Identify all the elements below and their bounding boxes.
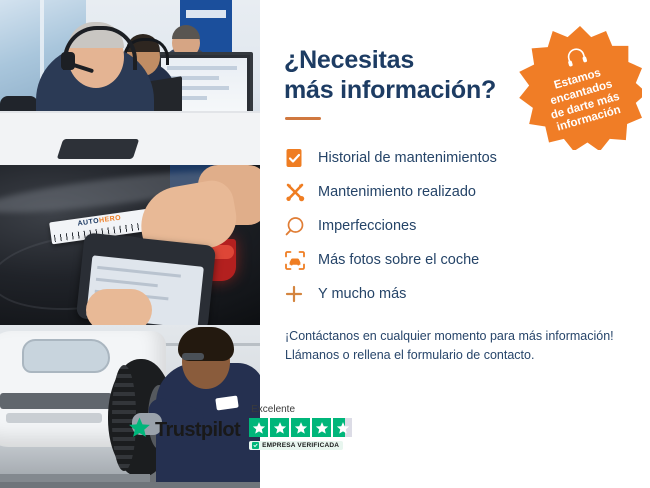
feature-label: Imperfecciones (318, 218, 416, 234)
feature-list: Historial de mantenimientos M (284, 142, 628, 310)
clipboard-check-icon (284, 147, 318, 169)
title-underline (285, 117, 321, 120)
feature-label: Mantenimiento realizado (318, 184, 476, 200)
star-tile (270, 418, 289, 437)
trustpilot-rating-label: Excelente (251, 404, 295, 415)
headset-icon (563, 45, 590, 73)
title-line-1: ¿Necesitas (284, 46, 414, 74)
feature-label: Y mucho más (318, 286, 406, 302)
contact-info-banner: AUTOHERO (0, 0, 650, 488)
plus-icon (284, 284, 318, 304)
feature-item-mantenimiento: Mantenimiento realizado (284, 176, 628, 208)
star-tile (291, 418, 310, 437)
feature-label: Más fotos sobre el coche (318, 252, 479, 268)
star-tile (312, 418, 331, 437)
star-tile-partial (333, 418, 352, 437)
contact-line-2: Llámanos o rellena el formulario de cont… (285, 346, 628, 365)
feature-label: Historial de mantenimientos (318, 150, 497, 166)
feature-item-imperfecciones: Imperfecciones (284, 210, 628, 242)
trustpilot-wordmark: Trustpilot (155, 419, 240, 442)
check-icon (252, 442, 259, 449)
trustpilot-brand: Trustpilot (128, 416, 240, 450)
feature-item-mas-fotos: Más fotos sobre el coche (284, 244, 628, 276)
trustpilot-widget[interactable]: Trustpilot Excelente EMPRESA VERIFICADA (128, 404, 352, 450)
tools-cross-icon (284, 181, 318, 203)
car-photo-frame-icon (284, 250, 318, 271)
verified-company-badge: EMPRESA VERIFICADA (249, 441, 343, 450)
call-center-agents-photo (0, 0, 260, 165)
magnifier-icon (284, 216, 318, 237)
contact-text: ¡Contáctanos en cualquier momento para m… (285, 327, 628, 366)
contact-line-1: ¡Contáctanos en cualquier momento para m… (285, 327, 628, 346)
title-line-2: más información? (284, 76, 496, 104)
feature-item-mucho-mas: Y mucho más (284, 278, 628, 310)
star-tile (249, 418, 268, 437)
verified-label: EMPRESA VERIFICADA (262, 442, 339, 449)
trustpilot-star-icon (128, 416, 151, 444)
promo-starburst-badge: Estamos encantados de darte más informac… (518, 26, 642, 150)
vehicle-inspection-photo: AUTOHERO (0, 165, 260, 325)
trustpilot-stars (249, 418, 352, 437)
